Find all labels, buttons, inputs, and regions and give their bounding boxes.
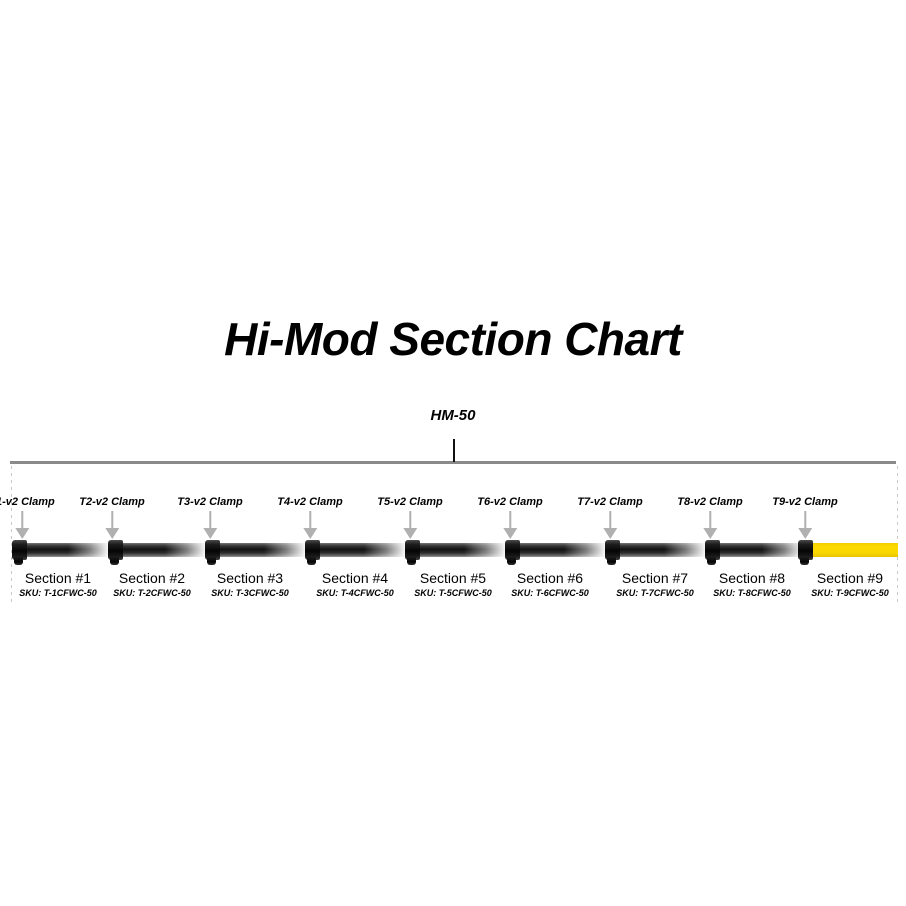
- pole-clamp-2: [108, 540, 123, 560]
- pole-section-9: [798, 543, 898, 557]
- clamp-label-7: T7-v2 Clamp: [577, 496, 642, 508]
- clamp-callout-1: T1-v2 Clamp: [0, 496, 55, 539]
- section-name-5: Section #5: [414, 570, 492, 586]
- clamp-label-5: T5-v2 Clamp: [377, 496, 442, 508]
- pole-clamp-3: [205, 540, 220, 560]
- down-arrow-icon: [798, 511, 812, 539]
- pole-clamp-8: [705, 540, 720, 560]
- clamp-callout-5: T5-v2 Clamp: [377, 496, 442, 539]
- pole-clamp-9: [798, 540, 813, 560]
- clamp-label-8: T8-v2 Clamp: [677, 496, 742, 508]
- section-sku-9: SKU: T-9CFWC-50: [811, 587, 889, 599]
- pole-section-4: [305, 543, 405, 557]
- pole-section-5: [405, 543, 505, 557]
- pole-tube-8: [715, 543, 802, 557]
- clamp-label-2: T2-v2 Clamp: [79, 496, 144, 508]
- down-arrow-icon: [503, 511, 517, 539]
- section-caption-9: Section #9 SKU: T-9CFWC-50: [811, 570, 889, 599]
- down-arrow-icon: [703, 511, 717, 539]
- section-caption-4: Section #4 SKU: T-4CFWC-50: [316, 570, 394, 599]
- pole-clamp-7: [605, 540, 620, 560]
- section-name-1: Section #1: [19, 570, 97, 586]
- section-name-8: Section #8: [713, 570, 791, 586]
- pole-tube-4: [315, 543, 405, 557]
- section-name-2: Section #2: [113, 570, 191, 586]
- pole-tube-5: [415, 543, 505, 557]
- pole-tube-3: [215, 543, 305, 557]
- pole-tube-1: [22, 543, 108, 557]
- scale-center-tick: [453, 439, 455, 462]
- section-sku-1: SKU: T-1CFWC-50: [19, 587, 97, 599]
- section-name-3: Section #3: [211, 570, 289, 586]
- pole-section-6: [505, 543, 605, 557]
- down-arrow-icon: [303, 511, 317, 539]
- clamp-callout-4: T4-v2 Clamp: [277, 496, 342, 539]
- section-sku-2: SKU: T-2CFWC-50: [113, 587, 191, 599]
- down-arrow-icon: [105, 511, 119, 539]
- section-caption-7: Section #7 SKU: T-7CFWC-50: [616, 570, 694, 599]
- clamp-callout-8: T8-v2 Clamp: [677, 496, 742, 539]
- pole-section-2: [108, 543, 205, 557]
- clamp-callout-9: T9-v2 Clamp: [772, 496, 837, 539]
- pole-clamp-1: [12, 540, 27, 560]
- pole-clamp-5: [405, 540, 420, 560]
- page-title: Hi-Mod Section Chart: [0, 316, 906, 362]
- section-sku-3: SKU: T-3CFWC-50: [211, 587, 289, 599]
- section-sku-8: SKU: T-8CFWC-50: [713, 587, 791, 599]
- pole-tube-9-yellow-tip: [808, 543, 898, 557]
- clamp-callout-6: T6-v2 Clamp: [477, 496, 542, 539]
- clamp-callout-3: T3-v2 Clamp: [177, 496, 242, 539]
- down-arrow-icon: [15, 511, 29, 539]
- clamp-label-3: T3-v2 Clamp: [177, 496, 242, 508]
- section-name-7: Section #7: [616, 570, 694, 586]
- section-name-9: Section #9: [811, 570, 889, 586]
- pole-clamp-4: [305, 540, 320, 560]
- pole-clamp-6: [505, 540, 520, 560]
- clamp-label-1: T1-v2 Clamp: [0, 496, 55, 508]
- section-caption-5: Section #5 SKU: T-5CFWC-50: [414, 570, 492, 599]
- down-arrow-icon: [403, 511, 417, 539]
- section-sku-5: SKU: T-5CFWC-50: [414, 587, 492, 599]
- pole-tube-2: [118, 543, 205, 557]
- pole-section-7: [605, 543, 705, 557]
- guide-line-right: [897, 466, 898, 606]
- section-name-6: Section #6: [511, 570, 589, 586]
- section-caption-1: Section #1 SKU: T-1CFWC-50: [19, 570, 97, 599]
- pole-tube-6: [515, 543, 605, 557]
- section-sku-7: SKU: T-7CFWC-50: [616, 587, 694, 599]
- section-name-4: Section #4: [316, 570, 394, 586]
- section-caption-2: Section #2 SKU: T-2CFWC-50: [113, 570, 191, 599]
- clamp-label-9: T9-v2 Clamp: [772, 496, 837, 508]
- section-caption-3: Section #3 SKU: T-3CFWC-50: [211, 570, 289, 599]
- pole-section-1: [12, 543, 108, 557]
- clamp-callout-2: T2-v2 Clamp: [79, 496, 144, 539]
- pole-tube-7: [615, 543, 705, 557]
- section-sku-6: SKU: T-6CFWC-50: [511, 587, 589, 599]
- pole-assembly: [0, 540, 906, 566]
- clamp-label-4: T4-v2 Clamp: [277, 496, 342, 508]
- clamp-callout-7: T7-v2 Clamp: [577, 496, 642, 539]
- section-caption-6: Section #6 SKU: T-6CFWC-50: [511, 570, 589, 599]
- pole-section-3: [205, 543, 305, 557]
- pole-section-8: [705, 543, 802, 557]
- down-arrow-icon: [603, 511, 617, 539]
- section-caption-8: Section #8 SKU: T-8CFWC-50: [713, 570, 791, 599]
- section-sku-4: SKU: T-4CFWC-50: [316, 587, 394, 599]
- model-label: HM-50: [0, 408, 906, 423]
- down-arrow-icon: [203, 511, 217, 539]
- clamp-label-6: T6-v2 Clamp: [477, 496, 542, 508]
